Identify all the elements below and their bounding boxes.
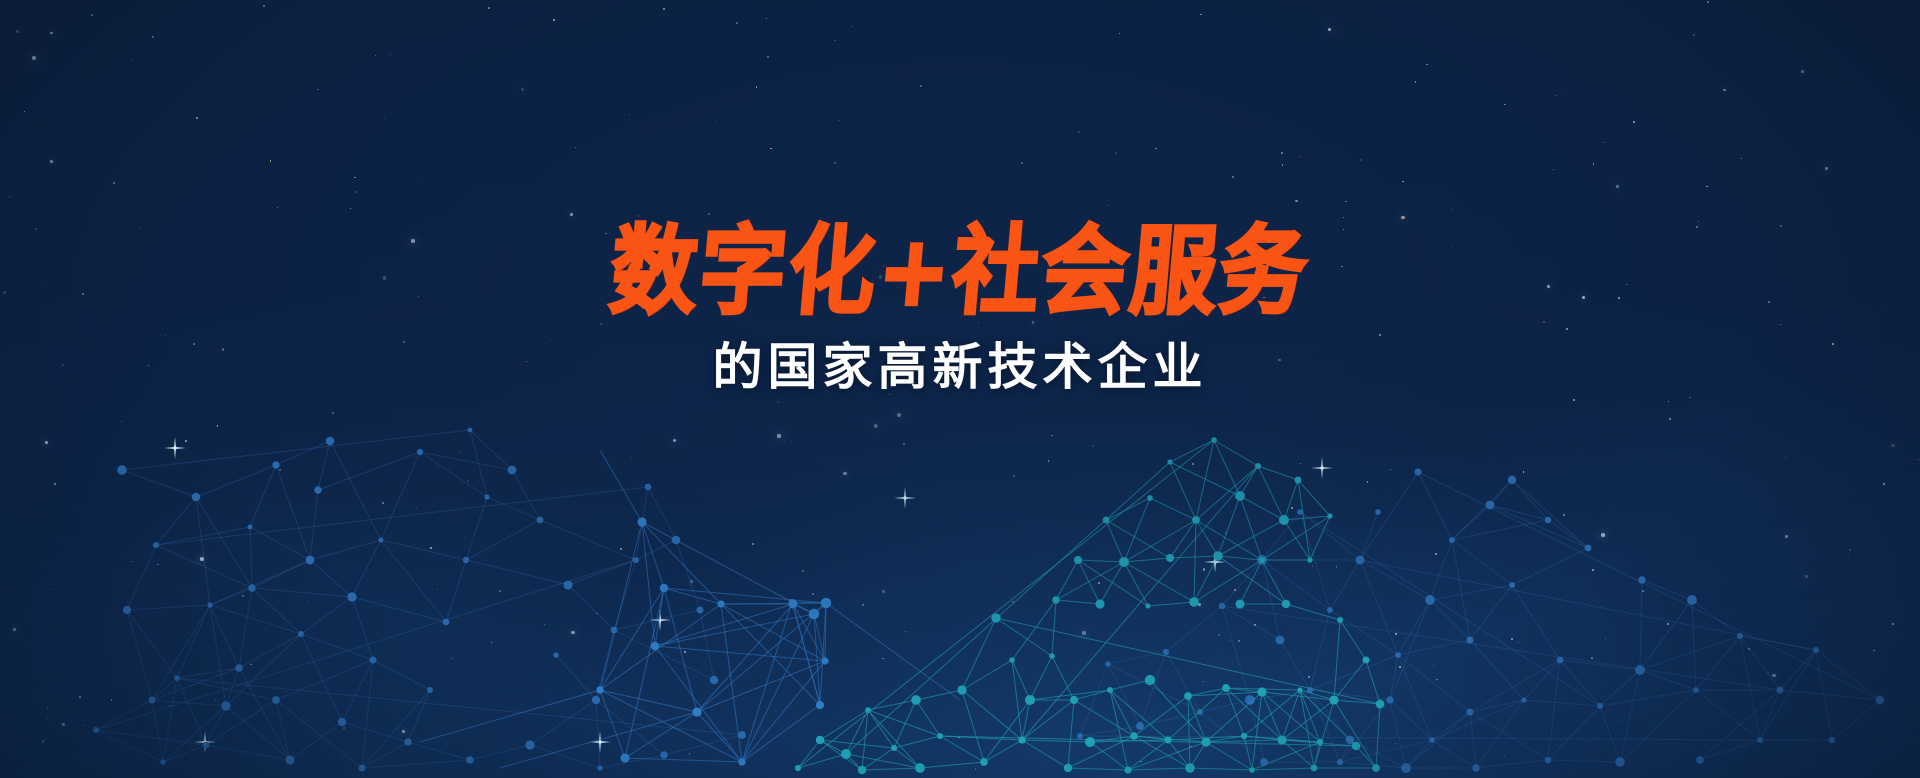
mesh-edge (1240, 496, 1262, 560)
mesh-edge (1078, 560, 1100, 604)
mesh-edge (1376, 704, 1380, 768)
mesh-node (1297, 687, 1302, 692)
mesh-edge (1106, 520, 1124, 562)
mesh-edge (1252, 692, 1262, 770)
mesh-node (1307, 557, 1312, 562)
mesh-node (1145, 675, 1155, 685)
mesh-node (1184, 692, 1192, 700)
mesh-node (1213, 551, 1222, 560)
mesh-edge (1150, 680, 1206, 742)
mesh-node (1259, 557, 1265, 563)
mesh-edge (1206, 692, 1262, 742)
banner-text-block: 数字化+社会服务 的国家高新技术企业 (0, 228, 1920, 394)
mesh-edge (1170, 520, 1196, 558)
mesh-edge (862, 748, 894, 770)
mesh-edge (1194, 520, 1196, 602)
mesh-edge (1262, 692, 1282, 740)
mesh-edge (798, 740, 820, 768)
mesh-edge (1056, 600, 1100, 604)
mesh-node (1295, 477, 1302, 484)
mesh-node (841, 749, 851, 759)
mesh-node (1009, 657, 1015, 663)
mesh-node (915, 763, 925, 773)
mesh-edge (862, 710, 868, 770)
mesh-node (937, 733, 943, 739)
mesh-edge (1252, 742, 1320, 770)
mesh-node (891, 745, 897, 751)
mesh-edge-long (846, 462, 1170, 754)
mesh-node (1222, 684, 1230, 692)
mesh-edge (1214, 440, 1240, 496)
mesh-edge (1022, 740, 1068, 768)
mesh-edge (1078, 560, 1148, 606)
mesh-edge (984, 700, 1030, 762)
mesh-node (991, 613, 1000, 622)
mesh-edge (1074, 690, 1110, 700)
mesh-node (1064, 764, 1073, 773)
mesh-node (1145, 603, 1150, 608)
mesh-node (911, 695, 921, 705)
mesh-edge (1218, 496, 1240, 556)
mesh-node (1018, 736, 1025, 743)
mesh-edge (798, 754, 846, 768)
mesh-edge (1262, 560, 1286, 604)
mesh-node (1329, 695, 1338, 704)
mesh-edge (1022, 700, 1074, 740)
mesh-node (1107, 687, 1113, 693)
mesh-node (980, 758, 988, 766)
mesh-edge (1340, 620, 1366, 660)
mesh-edge (868, 710, 894, 748)
mesh-node (1201, 737, 1210, 746)
mesh-node (1277, 735, 1286, 744)
banner-headline: 数字化+社会服务 (0, 223, 1920, 323)
mesh-node (1337, 617, 1343, 623)
mesh-edge (1068, 700, 1074, 768)
mesh-node (1052, 596, 1059, 603)
mesh-edge (1366, 660, 1380, 704)
mesh-node (1124, 766, 1131, 773)
mesh-node (1095, 599, 1104, 608)
mesh-edge (820, 740, 862, 770)
mesh-node (1317, 739, 1323, 745)
mesh-edge (1284, 516, 1330, 520)
mesh-node (1235, 599, 1244, 608)
mesh-node (1070, 696, 1078, 704)
mesh-edge (1170, 556, 1218, 558)
mesh-edge (1110, 680, 1150, 690)
mesh-edge (1150, 498, 1196, 520)
mesh-edge (1106, 498, 1150, 520)
mesh-edge (1188, 696, 1190, 768)
mesh-node (1167, 459, 1172, 464)
mesh-node (1352, 742, 1360, 750)
mesh-node (1376, 700, 1385, 709)
banner-subtitle: 的国家高新技术企业 (0, 339, 1920, 394)
mesh-node (1049, 653, 1055, 659)
mesh-edge (1284, 480, 1298, 520)
mesh-node (816, 736, 824, 744)
mesh-edge (1052, 600, 1056, 656)
mesh-node (1257, 687, 1266, 696)
mesh-edge (1196, 466, 1258, 520)
mesh-edge (1106, 520, 1170, 558)
mesh-edge (1206, 742, 1252, 770)
mesh-node (1311, 765, 1318, 772)
mesh-edge-long (798, 440, 1214, 768)
mesh-edge (1170, 462, 1240, 496)
mesh-node (1025, 695, 1035, 705)
mesh-edge (1170, 462, 1196, 520)
mesh-edge (1334, 700, 1376, 768)
mesh-edge (1240, 466, 1258, 496)
mesh-node (1103, 517, 1110, 524)
mesh-node (1282, 600, 1290, 608)
mesh-edge (1124, 558, 1170, 562)
mesh-edge (868, 710, 940, 736)
mesh-node (1327, 513, 1332, 518)
mesh-edge-long (996, 618, 1380, 704)
mesh-edge (1190, 768, 1252, 770)
mesh-node (1255, 463, 1261, 469)
mesh-edge (984, 740, 1022, 762)
mesh-edge (1128, 768, 1190, 770)
mesh-node (1249, 767, 1255, 773)
mesh-edge (868, 700, 916, 710)
hero-banner: 数字化+社会服务 的国家高新技术企业 (0, 0, 1920, 778)
mesh-node (1363, 657, 1370, 664)
mesh-edge (1128, 742, 1206, 770)
mesh-edge (962, 690, 1022, 740)
mesh-edge (962, 618, 996, 690)
mesh-edge (862, 768, 920, 770)
mesh-edge (1214, 440, 1258, 466)
mesh-node (1130, 732, 1138, 740)
mesh-edge (916, 690, 962, 700)
mesh-edge (1334, 620, 1340, 700)
mesh-node (1119, 557, 1129, 567)
mesh-edge (1218, 556, 1262, 560)
mesh-node (1165, 737, 1172, 744)
mesh-node (1085, 737, 1095, 747)
mesh-node (1235, 491, 1245, 501)
mesh-edge (1218, 520, 1284, 556)
mesh-edge (920, 762, 984, 768)
mesh-node (858, 766, 867, 775)
mesh-edge (1124, 520, 1196, 562)
mesh-edge (916, 700, 940, 736)
mesh-node (1074, 556, 1082, 564)
mesh-node (1185, 763, 1194, 772)
mesh-edge (1068, 768, 1128, 770)
mesh-node (1241, 733, 1247, 739)
mesh-node (1279, 515, 1289, 525)
mesh-node (1166, 554, 1174, 562)
mesh-node (1189, 597, 1199, 607)
mesh-node (1192, 516, 1200, 524)
mesh-edge (1356, 746, 1376, 768)
mesh-edge (1078, 560, 1124, 562)
mesh-edge (1148, 602, 1194, 606)
mesh-edge (1286, 604, 1340, 620)
mesh-edge (1170, 440, 1214, 462)
mesh-edge (1022, 740, 1090, 742)
mesh-node (1147, 495, 1153, 501)
mesh-edge (1226, 688, 1244, 736)
mesh-node (1211, 437, 1217, 443)
mesh-edge (1226, 688, 1282, 740)
mesh-edge (1030, 656, 1052, 700)
mesh-edge (1284, 520, 1310, 560)
mesh-edge (1110, 690, 1128, 770)
mesh-node (1372, 764, 1380, 772)
mesh-edge (1334, 660, 1366, 700)
mesh-edge (1052, 656, 1074, 700)
mesh-node (957, 685, 966, 694)
mesh-node (795, 765, 801, 771)
mesh-edge (894, 748, 920, 768)
mesh-node (865, 707, 871, 713)
mesh-edge (1252, 768, 1314, 770)
mesh-edge (996, 618, 1052, 656)
